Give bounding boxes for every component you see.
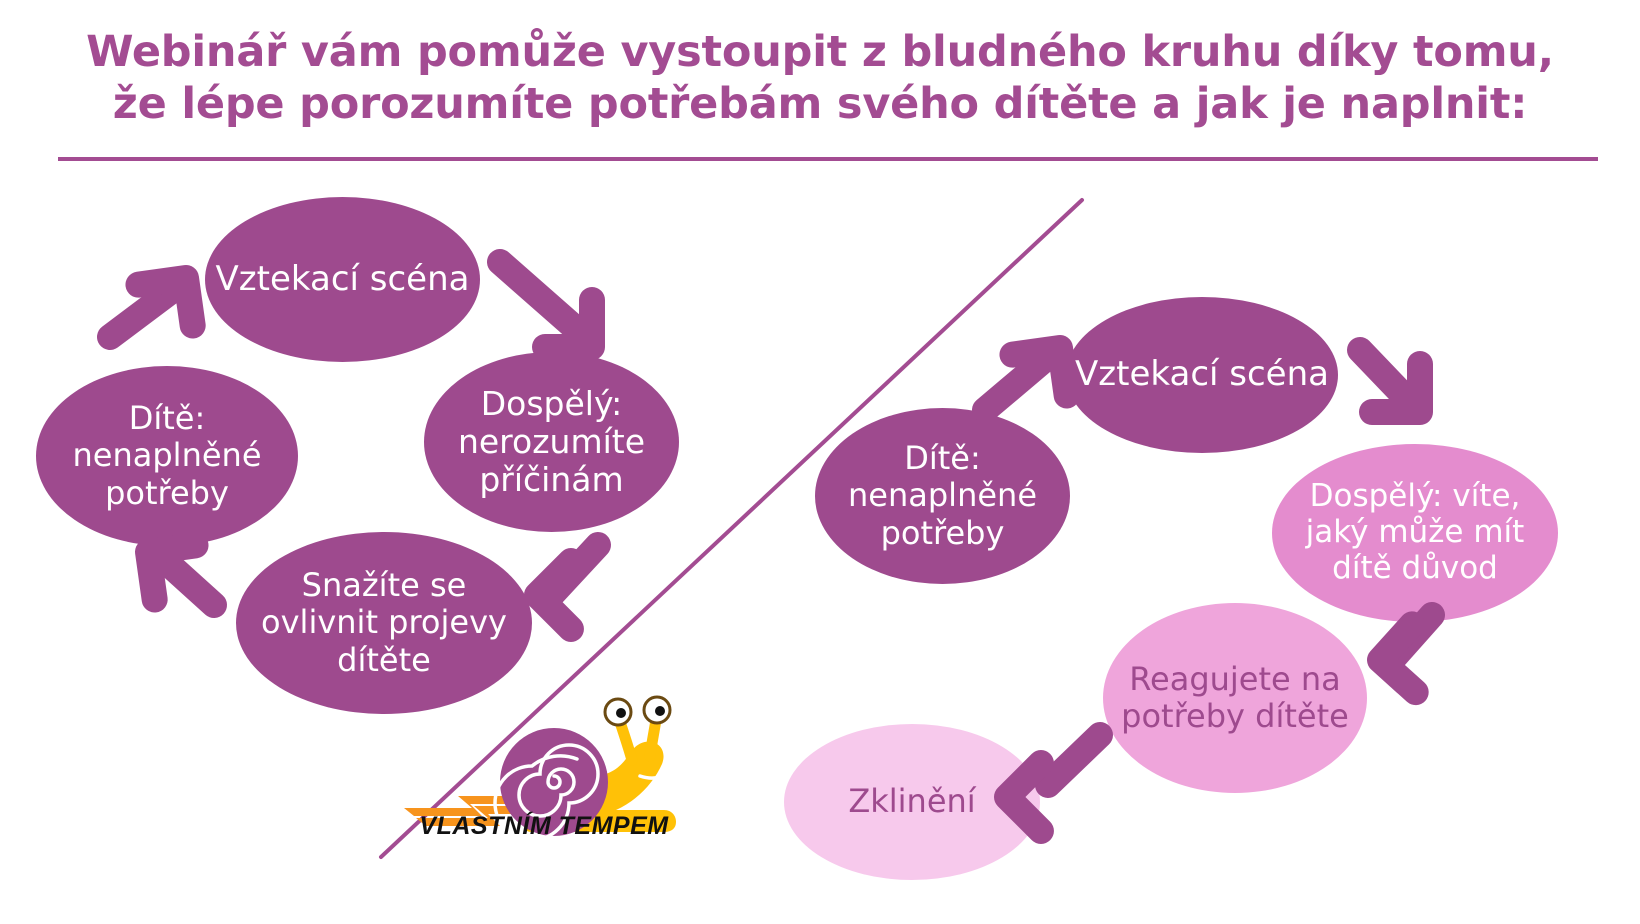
ellipse-label: Vztekací scéna [210,260,476,299]
ellipse-right-reagujete[interactable]: Reagujete na potřeby dítěte [1103,603,1367,793]
arrow-right-dospely-to-reagujete [1380,615,1448,692]
ellipse-label: Dítě: nenaplněné potřeby [36,400,298,511]
arrow-left-dite-to-vztekaci [110,278,193,337]
snail-antenna-left [620,722,632,760]
ellipse-label: Dítě: nenaplněné potřeby [815,440,1070,551]
ellipse-right-vztekaci-scena[interactable]: Vztekací scéna [1066,297,1338,453]
snail-pupil-left [616,708,626,718]
ellipse-label: Zklinění [842,783,981,820]
ellipse-label: Vztekací scéna [1069,355,1335,394]
arrow-left-vztekaci-to-dospely [500,262,592,347]
page-title: Webinář vám pomůže vystoupit z bludného … [0,26,1640,131]
snail-antenna-right [650,720,656,756]
ellipse-right-dite[interactable]: Dítě: nenaplněné potřeby [815,408,1070,584]
ellipse-left-dospely[interactable]: Dospělý: nerozumíte příčinám [424,352,679,532]
title-underline-rule [58,157,1598,161]
arrow-left-dospely-to-snazite [537,545,605,629]
arrow-right-dite-to-vztekaci [985,348,1067,410]
snail-pupil-right [655,706,665,716]
ellipse-right-zklineni[interactable]: Zklinění [784,724,1040,880]
arrow-left-snazite-to-dite [148,545,214,605]
ellipse-right-dospely[interactable]: Dospělý: víte, jaký může mít dítě důvod [1272,444,1558,622]
arrow-right-vztekaci-to-dospely [1360,350,1420,412]
ellipse-label: Snažíte se ovlivnit projevy dítěte [236,567,532,678]
page-title-line-2: že lépe porozumíte potřebám svého dítěte… [0,78,1640,130]
ellipse-left-vztekaci-scena[interactable]: Vztekací scéna [205,197,480,362]
ellipse-label: Dospělý: nerozumíte příčinám [424,385,679,500]
ellipse-left-dite[interactable]: Dítě: nenaplněné potřeby [36,366,298,546]
ellipse-label: Dospělý: víte, jaký může mít dítě důvod [1272,479,1558,587]
page-title-line-1: Webinář vám pomůže vystoupit z bludného … [0,26,1640,78]
logo-wordmark: VLASTNÍM TEMPEM [404,812,684,841]
ellipse-label: Reagujete na potřeby dítěte [1103,661,1367,735]
infographic-canvas: Webinář vám pomůže vystoupit z bludného … [0,0,1640,924]
